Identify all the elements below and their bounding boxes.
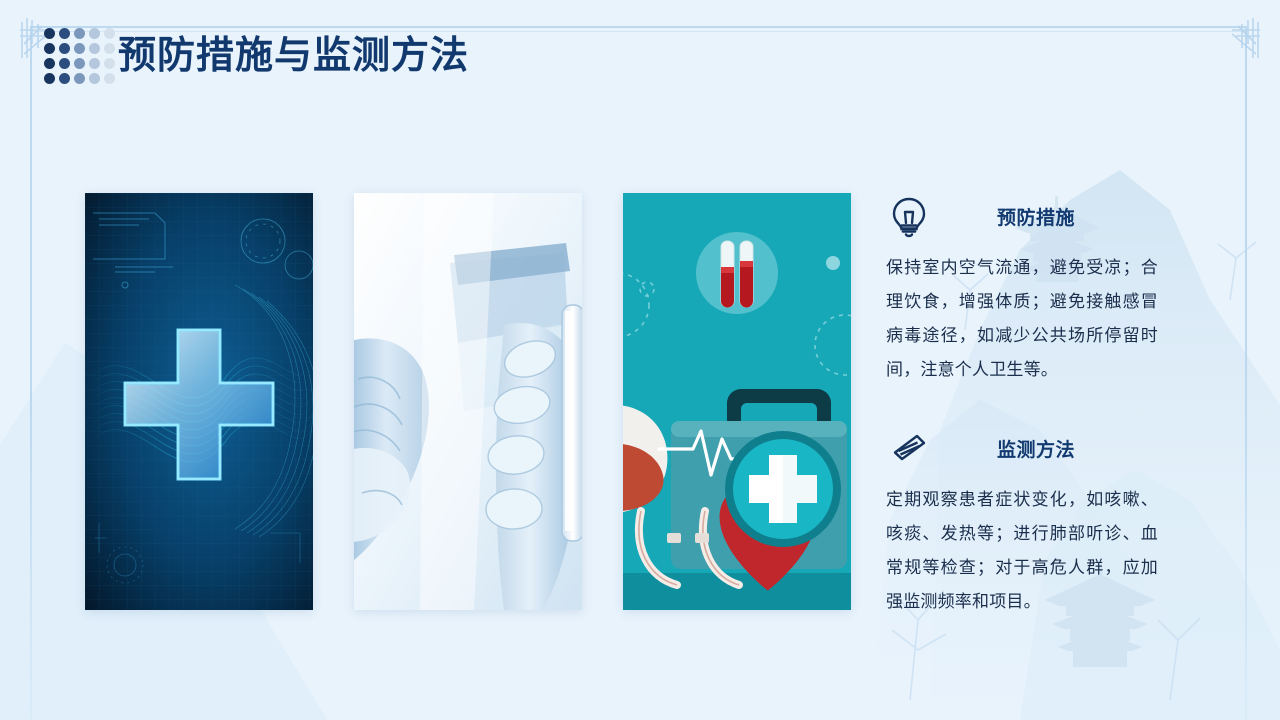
dot-grid-decoration (44, 28, 115, 84)
info-block-body: 定期观察患者症状变化，如咳嗽、咳痰、发热等；进行肺部听诊、血常规等检查；对于高危… (886, 483, 1158, 619)
info-block-header: 预防措施 (886, 193, 1158, 239)
frame-left-rule (30, 26, 32, 720)
dot-grid-dot (104, 73, 115, 84)
dot-grid-dot (44, 43, 55, 54)
photo-medical-kit-illustration[interactable] (623, 193, 851, 610)
pencil-icon (886, 425, 932, 471)
dot-grid-dot (44, 58, 55, 69)
dot-grid-dot (59, 73, 70, 84)
photo-gloved-hands-test-tube[interactable] (354, 193, 582, 610)
page-title: 预防措施与监测方法 (118, 34, 469, 80)
info-block-monitoring: 监测方法 定期观察患者症状变化，如咳嗽、咳痰、发热等；进行肺部听诊、血常规等检查… (886, 425, 1158, 619)
dot-grid-dot (59, 28, 70, 39)
info-block-body: 保持室内空气流通，避免受凉；合理饮食，增强体质；避免接触感冒病毒途径，如减少公共… (886, 251, 1158, 387)
info-column: 预防措施 保持室内空气流通，避免受凉；合理饮食，增强体质；避免接触感冒病毒途径，… (886, 193, 1158, 619)
dot-grid-dot (74, 58, 85, 69)
slide-header: 预防措施与监测方法 (0, 0, 1280, 110)
dot-grid-dot (89, 43, 100, 54)
info-block-header: 监测方法 (886, 425, 1158, 471)
dot-grid-dot (44, 28, 55, 39)
info-block-title: 预防措施 (932, 203, 1158, 230)
dot-grid-dot (89, 58, 100, 69)
dot-grid-dot (74, 73, 85, 84)
dot-grid-dot (59, 58, 70, 69)
dot-grid-dot (74, 28, 85, 39)
dot-grid-dot (59, 43, 70, 54)
dot-grid-dot (74, 43, 85, 54)
dot-grid-dot (104, 43, 115, 54)
info-block-title: 监测方法 (932, 435, 1158, 462)
dot-grid-dot (89, 28, 100, 39)
dot-grid-dot (104, 28, 115, 39)
frame-right-rule (1245, 26, 1247, 720)
dot-grid-dot (44, 73, 55, 84)
info-block-prevention: 预防措施 保持室内空气流通，避免受凉；合理饮食，增强体质；避免接触感冒病毒途径，… (886, 193, 1158, 387)
dot-grid-dot (104, 58, 115, 69)
lightbulb-icon (886, 193, 932, 239)
image-strip (85, 193, 851, 610)
photo-tech-medical-cross[interactable] (85, 193, 313, 610)
dot-grid-dot (89, 73, 100, 84)
